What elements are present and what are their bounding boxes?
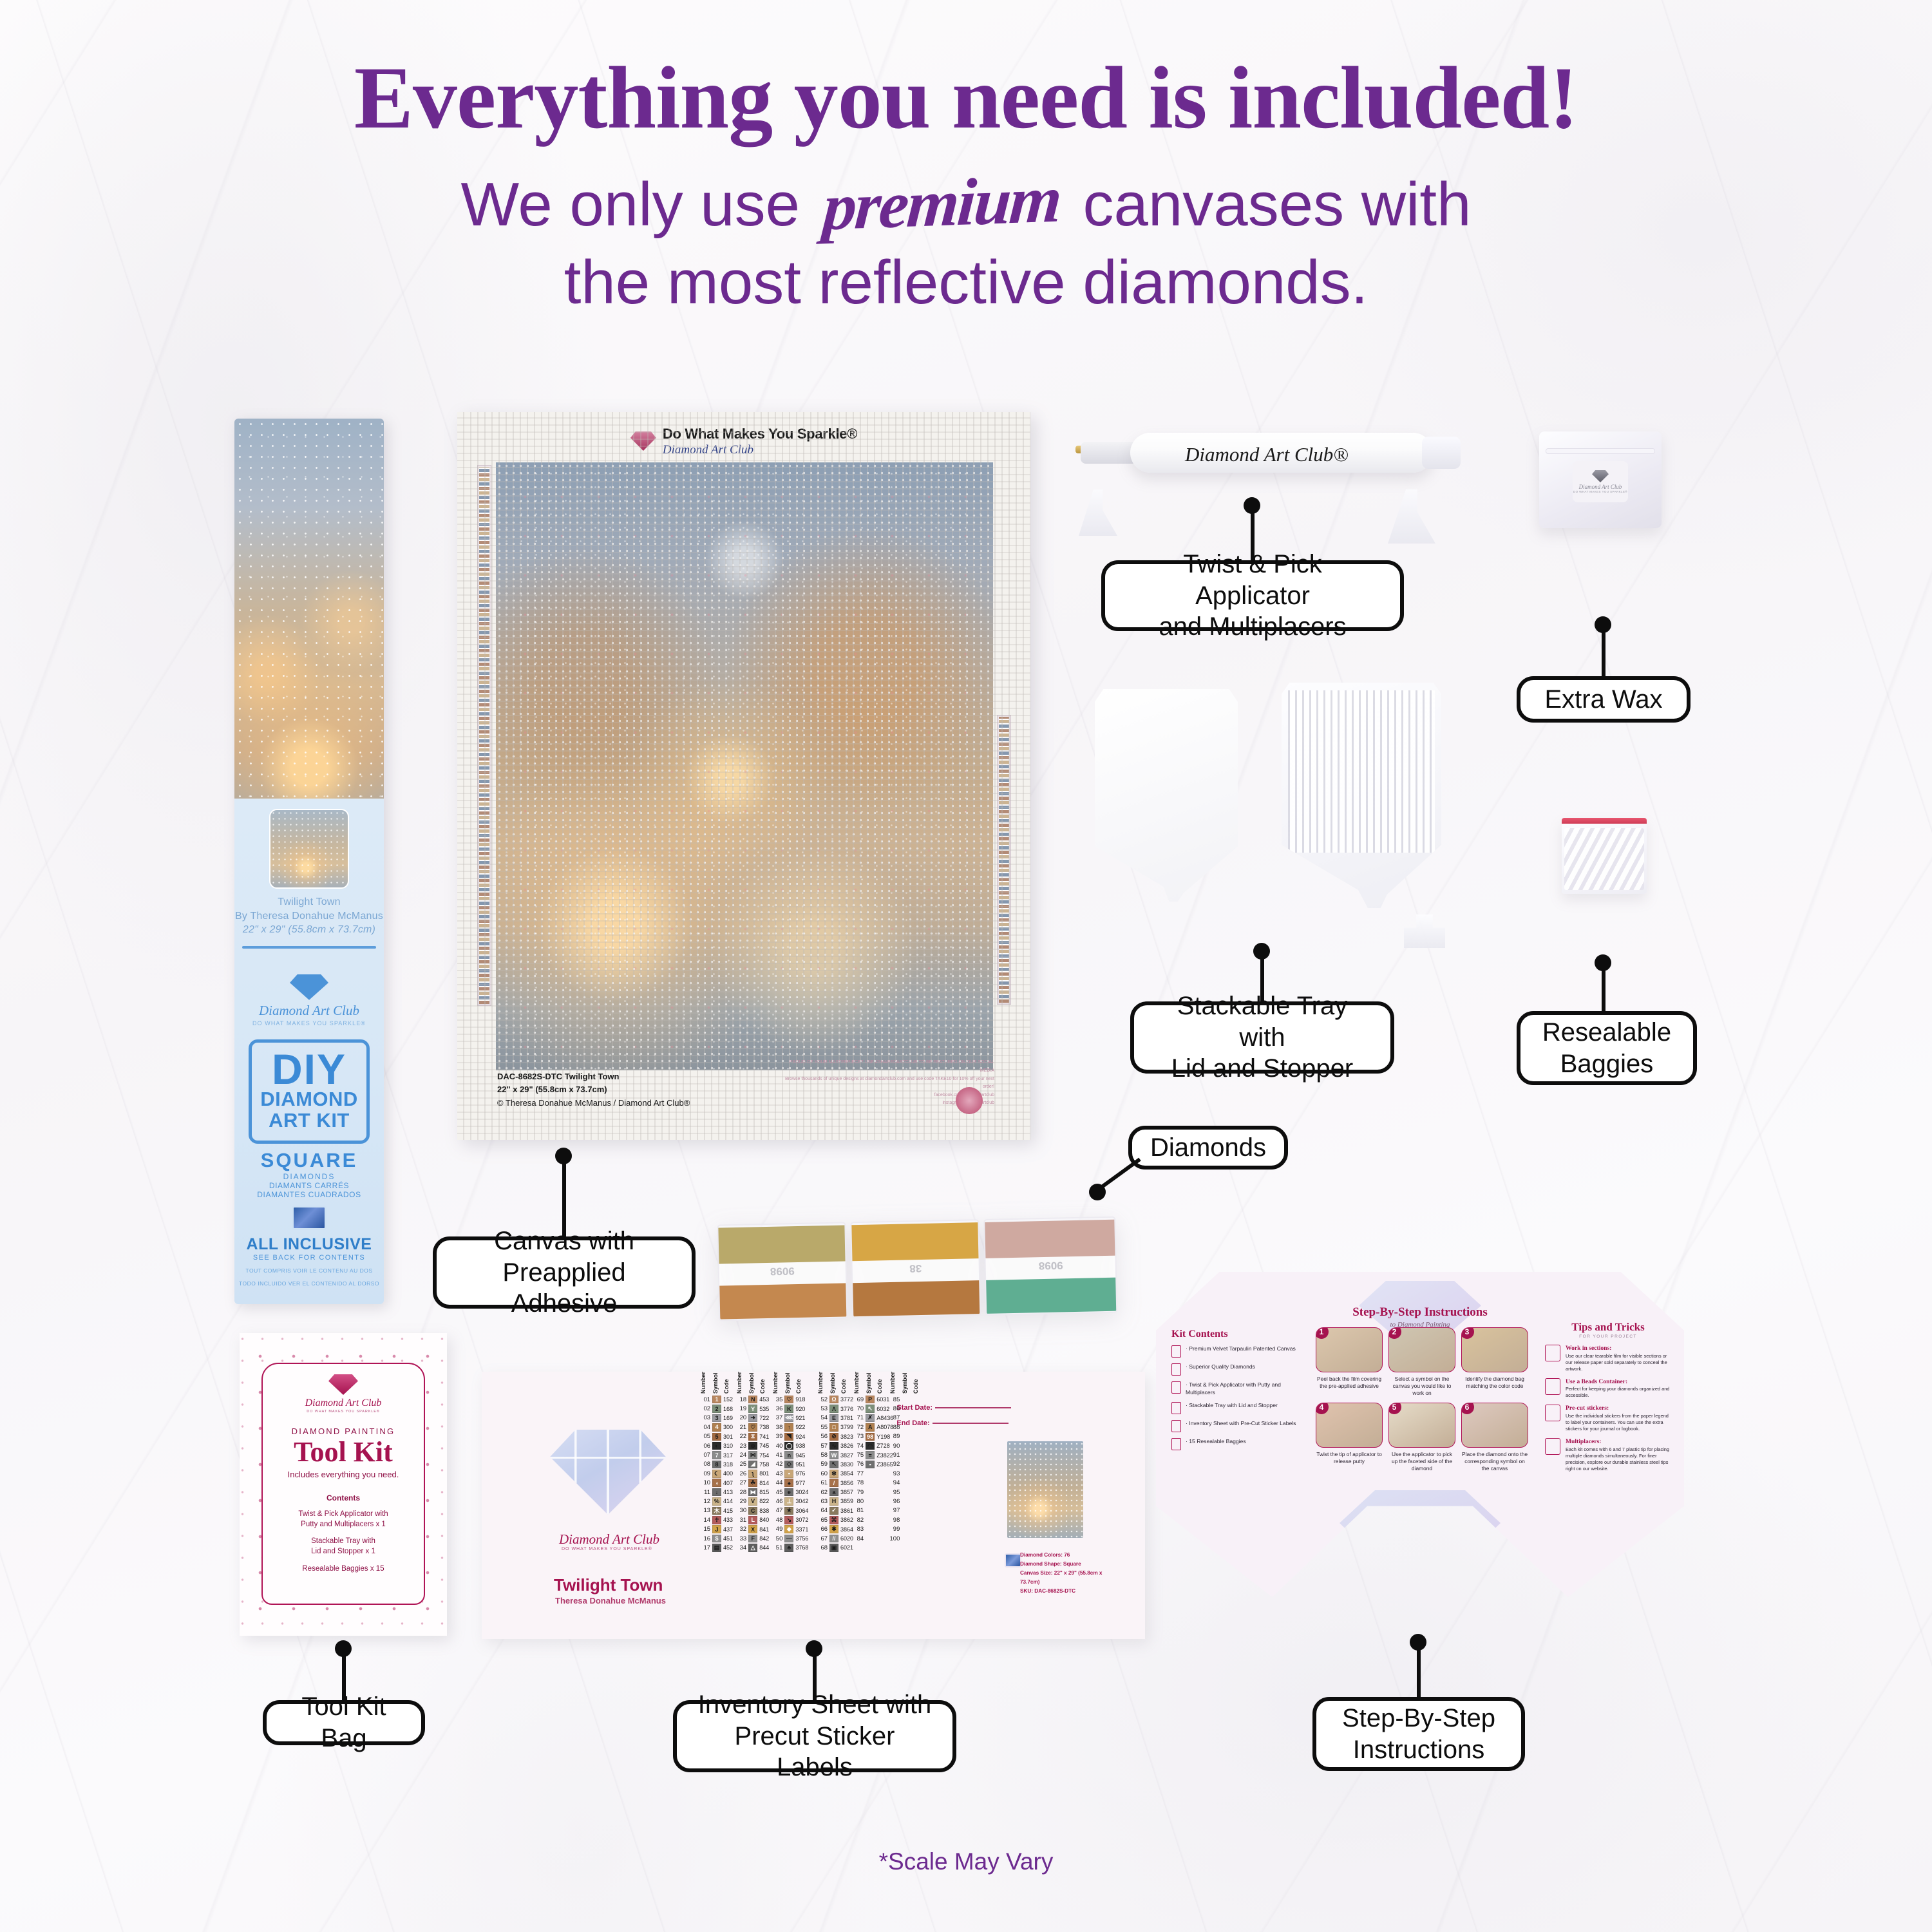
inventory-symbol: ✓ [829, 1507, 838, 1515]
toolkit-subtitle: Includes everything you need. [263, 1470, 424, 1479]
inventory-number: 21 [736, 1424, 746, 1431]
kit-content-item: · 15 Resealable Baggies [1171, 1438, 1298, 1450]
tip-item: Use a Beads Container:Perfect for keepin… [1545, 1378, 1671, 1399]
callout-stackable-tray: Stackable Tray with Lid and Stopper [1130, 1001, 1394, 1074]
inventory-symbol: ↖ [829, 1461, 838, 1469]
toolkit-content-3: Resealable Baggies x 15 [263, 1564, 424, 1574]
inventory-symbol: 98 [866, 1433, 875, 1441]
inventory-symbol: / [829, 1479, 838, 1487]
applicator-rear-cap [1422, 437, 1461, 469]
inventory-header-number: Number [817, 1365, 828, 1394]
inventory-symbol: P [866, 1396, 875, 1404]
instruction-step: 6Place the diamond onto the correspondin… [1461, 1403, 1528, 1472]
inventory-symbol: 7 [712, 1451, 721, 1459]
wax-tagline: DO WHAT MAKES YOU SPARKLE® [1573, 490, 1627, 493]
inventory-symbol: ⊥ [784, 1497, 793, 1506]
inventory-row: 95 [889, 1488, 932, 1497]
inventory-number: 36 [772, 1405, 782, 1412]
inventory-symbol: ↓ [712, 1488, 721, 1497]
leader-dot-baggies [1595, 954, 1611, 971]
inventory-number: 02 [700, 1405, 710, 1412]
toolkit-contents-label: Contents [263, 1493, 424, 1502]
inventory-code: 938 [795, 1443, 815, 1449]
inventory-symbol [902, 1479, 911, 1487]
headline-block: Everything you need is included! We only… [0, 52, 1932, 320]
inventory-code: 924 [795, 1434, 815, 1440]
inventory-number: 88 [889, 1424, 900, 1431]
inventory-symbol: // [829, 1535, 838, 1543]
canvas-seal-badge [956, 1087, 983, 1114]
inventory-symbol [866, 1479, 875, 1487]
diamond-icon [630, 431, 656, 451]
inventory-number: 87 [889, 1414, 900, 1421]
instruction-step-image: 6 [1461, 1403, 1528, 1448]
inventory-number: 40 [772, 1443, 782, 1450]
baggie-plastic-folds [1564, 828, 1644, 890]
inventory-number: 93 [889, 1470, 900, 1477]
inventory-symbol: 木 [712, 1507, 721, 1515]
inventory-symbol: ♡ [748, 1423, 757, 1432]
inventory-code: 918 [795, 1396, 815, 1403]
toolkit-brand-sub: DO WHAT MAKES YOU SPARKLE® [263, 1410, 424, 1414]
inventory-number: 65 [817, 1517, 828, 1524]
canvas-legend-right [997, 715, 1011, 1005]
inventory-symbol [902, 1525, 911, 1533]
diamond-bag: 9098 [717, 1222, 848, 1321]
inventory-symbol [866, 1488, 875, 1497]
canvas-footer: DAC-8682S-DTC Twilight Town 22" x 29" (5… [497, 1070, 690, 1110]
inventory-number: 80 [853, 1498, 864, 1505]
inventory-number: 18 [736, 1396, 746, 1403]
inventory-row: 43▪976 [772, 1469, 815, 1478]
inventory-symbol [902, 1507, 911, 1515]
tube-shape: SQUARE [234, 1149, 384, 1172]
inventory-row: 87 [889, 1414, 932, 1423]
inventory-author: Theresa Donahue McManus [555, 1596, 666, 1605]
inventory-number: 57 [817, 1443, 828, 1450]
tube-diy-badge: DIY DIAMOND ART KIT [249, 1039, 370, 1144]
start-date-input[interactable] [935, 1407, 1011, 1408]
inventory-number: 94 [889, 1479, 900, 1486]
tube-tiny-fr: TOUT COMPRIS VOIR LE CONTENU AU DOS [234, 1267, 384, 1275]
tip-title: Pre-cut stickers: [1566, 1405, 1671, 1413]
inventory-symbol [902, 1488, 911, 1497]
inventory-symbol: L [748, 1516, 757, 1524]
tip-item: Pre-cut stickers:Use the individual stic… [1545, 1405, 1671, 1432]
inventory-row: 36K920 [772, 1404, 815, 1413]
inventory-header-number: Number [889, 1365, 900, 1394]
product-resealable-baggie [1562, 818, 1647, 894]
inventory-symbol: X [748, 1525, 757, 1533]
diamond-bag-code: 9098 [1038, 1258, 1063, 1272]
inventory-header-number: Number [853, 1365, 864, 1394]
diamond-icon [328, 1374, 358, 1395]
inventory-symbol: ☥ [712, 1516, 721, 1524]
inventory-number: 48 [772, 1517, 782, 1524]
tube-shape-sub: DIAMONDS [234, 1172, 384, 1181]
instruction-step-number: 2 [1388, 1327, 1401, 1339]
inventory-number: 30 [736, 1507, 746, 1514]
inventory-number: 28 [736, 1489, 746, 1496]
inventory-meta-size: Canvas Size: 22" x 29" (55.8cm x 73.7cm) [1020, 1569, 1108, 1587]
inventory-row: 39◥924 [772, 1432, 815, 1441]
inventory-meta-block: Diamond Colors: 76 Diamond Shape: Square… [1020, 1551, 1108, 1596]
product-twist-pick-applicator: Diamond Art Club® [1069, 425, 1468, 483]
tube-diy-line3: ART KIT [254, 1110, 364, 1132]
inventory-column-group: NumberSymbolCode858687888990919293949596… [889, 1395, 932, 1543]
inventory-symbol [902, 1414, 911, 1423]
inventory-number: 54 [817, 1414, 828, 1421]
tip-icon [1545, 1405, 1560, 1421]
inventory-symbol: ➜ [748, 1414, 757, 1423]
kit-content-item: · Twist & Pick Applicator with Putty and… [1171, 1381, 1298, 1396]
inventory-symbol [866, 1525, 875, 1533]
instruction-step-image: 3 [1461, 1327, 1528, 1372]
toolkit-brand: Diamond Art Club [263, 1397, 424, 1409]
baggie-zip-strip [1562, 818, 1647, 824]
inventory-header-symbol: Symbol [866, 1365, 875, 1394]
inventory-symbol: ∿ [829, 1442, 838, 1450]
inventory-code: 951 [795, 1461, 815, 1468]
page-subtitle: We only use premium canvases with the mo… [0, 163, 1932, 320]
inventory-row: 96 [889, 1497, 932, 1506]
inventory-number: 13 [700, 1507, 710, 1514]
inventory-symbol: ▪ [866, 1461, 875, 1469]
inventory-number: 20 [736, 1414, 746, 1421]
kit-contents-title: Kit Contents [1171, 1329, 1298, 1340]
inventory-number: 45 [772, 1489, 782, 1496]
inventory-row: 92 [889, 1460, 932, 1469]
inventory-number: 69 [853, 1396, 864, 1403]
inventory-number: 58 [817, 1452, 828, 1459]
inventory-symbol: □ [829, 1423, 838, 1432]
tip-title: Work in sections: [1566, 1345, 1671, 1353]
inventory-symbol: ↖ [866, 1405, 875, 1413]
inventory-row: 68▣6021 [817, 1543, 860, 1552]
inventory-symbol: ◠ [866, 1442, 875, 1450]
inventory-number: 01 [700, 1396, 710, 1403]
tips-and-tricks-block: Tips and Tricks FOR YOUR PROJECT Work in… [1545, 1321, 1671, 1472]
inventory-row: 41n945 [772, 1450, 815, 1459]
inventory-symbol: 8 [712, 1461, 721, 1469]
inventory-number: 95 [889, 1489, 900, 1496]
inventory-number: 14 [700, 1517, 710, 1524]
inventory-symbol [902, 1396, 911, 1404]
callout-extra-wax: Extra Wax [1517, 676, 1690, 723]
inventory-row: 50—3756 [772, 1534, 815, 1543]
inventory-symbol: a [829, 1488, 838, 1497]
diamond-chip-icon [292, 1206, 327, 1230]
inventory-number: 46 [772, 1498, 782, 1505]
inventory-meta-colors: Diamond Colors: 76 [1020, 1551, 1108, 1560]
tip-text: Perfect for keeping your diamonds organi… [1566, 1386, 1671, 1399]
inventory-symbol: ⋈ [748, 1451, 757, 1459]
inventory-symbol: $ [712, 1535, 721, 1543]
tube-diy-line2: DIAMOND [254, 1089, 364, 1110]
inventory-number: 78 [853, 1479, 864, 1486]
inventory-number: 31 [736, 1517, 746, 1524]
tube-label-area: Twilight Town By Theresa Donahue McManus… [234, 799, 384, 1304]
instruction-step-image: 1 [1316, 1327, 1383, 1372]
inventory-number: 49 [772, 1526, 782, 1533]
instruction-step-text: Select a symbol on the canvas you would … [1388, 1376, 1455, 1397]
kit-contents-block: Kit Contents · Premium Velvet Tarpaulin … [1171, 1329, 1298, 1456]
inventory-number: 50 [772, 1535, 782, 1542]
inventory-code: 3072 [795, 1517, 815, 1523]
inventory-number: 12 [700, 1498, 710, 1505]
inventory-number: 62 [817, 1489, 828, 1496]
inventory-meta-sku: SKU: DAC-8682S-DTC [1020, 1587, 1108, 1596]
inventory-number: 63 [817, 1498, 828, 1505]
subtitle-part-3: the most reflective diamonds. [564, 248, 1368, 317]
inventory-number: 70 [853, 1405, 864, 1412]
inventory-symbol: K [784, 1405, 793, 1413]
leader-dot-toolkit [335, 1640, 352, 1657]
inventory-number: 71 [853, 1414, 864, 1421]
inventory-header-symbol: Symbol [829, 1365, 838, 1394]
canvas-legend-left [477, 465, 491, 1006]
diamond-bag: 38 [850, 1219, 981, 1318]
inventory-symbol [902, 1497, 911, 1506]
inventory-number: 64 [817, 1507, 828, 1514]
inventory-number: 82 [853, 1517, 864, 1524]
inventory-row: 94 [889, 1479, 932, 1488]
leader-dot-tray [1253, 943, 1270, 960]
inventory-number: 05 [700, 1433, 710, 1440]
inventory-number: 81 [853, 1507, 864, 1514]
inventory-symbol: ★ [784, 1507, 793, 1515]
inventory-number: 60 [817, 1470, 828, 1477]
inventory-number: 84 [853, 1535, 864, 1542]
instruction-step-image: 2 [1388, 1327, 1455, 1372]
tube-divider [242, 946, 376, 949]
tube-all-inclusive: ALL INCLUSIVE [234, 1235, 384, 1254]
inventory-number: 22 [736, 1433, 746, 1440]
inventory-number: 89 [889, 1433, 900, 1440]
inventory-number: 79 [853, 1489, 864, 1496]
inventory-symbol: ▣ [829, 1544, 838, 1552]
diamond-icon [1592, 470, 1609, 482]
inventory-meta-shape: Diamond Shape: Square [1020, 1560, 1108, 1569]
kit-content-icon [1171, 1438, 1181, 1450]
instruction-step-text: Identify the diamond bag matching the co… [1461, 1376, 1528, 1390]
tip-icon [1545, 1438, 1560, 1455]
inventory-number: 90 [889, 1443, 900, 1450]
inventory-number: 53 [817, 1405, 828, 1412]
canvas-side-note: PROUD OF YOUR MASTERPIECE? USE #SHAREDAR… [775, 1059, 994, 1075]
inventory-number: 23 [736, 1443, 746, 1450]
wax-label: Diamond Art Club DO WHAT MAKES YOU SPARK… [1573, 461, 1628, 502]
wax-brand: Diamond Art Club [1579, 484, 1622, 490]
inventory-row: 42◇951 [772, 1460, 815, 1469]
inventory-number: 26 [736, 1470, 746, 1477]
inventory-number: 51 [772, 1544, 782, 1551]
inventory-symbol: J [712, 1525, 721, 1533]
inventory-number: 35 [772, 1396, 782, 1403]
inventory-symbol [902, 1470, 911, 1478]
instruction-step: 1Peel back the film covering the pre-app… [1316, 1327, 1383, 1397]
diamond-bag-code: 38 [909, 1262, 922, 1274]
inventory-number: 33 [736, 1535, 746, 1542]
kit-contents-list: · Premium Velvet Tarpaulin Patented Canv… [1171, 1345, 1298, 1450]
end-date-input[interactable] [933, 1423, 1009, 1424]
inventory-symbol: N [748, 1396, 757, 1404]
inventory-symbol [902, 1405, 911, 1413]
inventory-code: 6021 [840, 1544, 860, 1551]
inventory-symbol: e [784, 1488, 793, 1497]
kit-content-label: · Premium Velvet Tarpaulin Patented Canv… [1186, 1345, 1296, 1358]
tip-icon [1545, 1378, 1560, 1395]
inventory-number: 76 [853, 1461, 864, 1468]
toolkit-content-2: Stackable Tray with Lid and Stopper x 1 [263, 1536, 424, 1557]
inventory-code: 920 [795, 1406, 815, 1412]
kit-content-icon [1171, 1363, 1181, 1376]
product-inventory-sheet: Diamond Art Club DO WHAT MAKES YOU SPARK… [482, 1372, 1145, 1639]
inventory-symbol: W [829, 1451, 838, 1459]
instruction-step-text: Use the applicator to pick up the facete… [1388, 1451, 1455, 1472]
inventory-brand-sub: DO WHAT MAKES YOU SPARKLE® [562, 1547, 652, 1551]
inventory-row: 86 [889, 1404, 932, 1413]
inventory-number: 72 [853, 1424, 864, 1431]
instruction-step: 5Use the applicator to pick up the facet… [1388, 1403, 1455, 1472]
inventory-brand: Diamond Art Club [559, 1531, 659, 1548]
tube-brand-block: Diamond Art Club DO WHAT MAKES YOU SPARK… [234, 974, 384, 1027]
subtitle-part-1: We only use [461, 170, 800, 239]
inventory-number: 07 [700, 1452, 710, 1459]
callout-diamonds: Diamonds [1128, 1126, 1288, 1170]
inventory-number: 61 [817, 1479, 828, 1486]
tip-title: Use a Beads Container: [1566, 1378, 1671, 1387]
instruction-steps-grid: 1Peel back the film covering the pre-app… [1316, 1327, 1528, 1472]
inventory-number: 11 [700, 1489, 710, 1496]
inventory-number: 99 [889, 1526, 900, 1533]
canvas-sku-title: DAC-8682S-DTC Twilight Town [497, 1070, 690, 1084]
inventory-number: 24 [736, 1452, 746, 1459]
inventory-number: 85 [889, 1396, 900, 1403]
instructions-title: Step-By-Step Instructions [1156, 1305, 1684, 1320]
inventory-symbol: % [712, 1497, 721, 1506]
product-extra-wax-packet: Diamond Art Club DO WHAT MAKES YOU SPARK… [1539, 431, 1662, 528]
inventory-row: 93 [889, 1469, 932, 1478]
toolkit-content-1: Twist & Pick Applicator with Putty and M… [263, 1509, 424, 1529]
leader-dot-inventory [806, 1640, 822, 1657]
inventory-symbol: ◖ [712, 1479, 721, 1487]
tube-diy-text: DIY [254, 1049, 364, 1090]
instruction-step-text: Twist the tip of applicator to release p… [1316, 1451, 1383, 1465]
inventory-symbol [902, 1461, 911, 1469]
tube-brand-tagline: DO WHAT MAKES YOU SPARKLE® [234, 1020, 384, 1027]
inventory-symbol [902, 1433, 911, 1441]
inventory-number: 66 [817, 1526, 828, 1533]
inventory-row: 46⊥3042 [772, 1497, 815, 1506]
tube-brand-name: Diamond Art Club [234, 1003, 384, 1019]
inventory-number: 27 [736, 1479, 746, 1486]
inventory-row: 37⋘921 [772, 1414, 815, 1423]
inventory-symbol: ◆ [784, 1525, 793, 1533]
inventory-symbol: ↑ [784, 1423, 793, 1432]
tip-text: Use the individual stickers from the pap… [1566, 1413, 1671, 1432]
tube-design-title: Twilight Town [234, 895, 384, 909]
inventory-number: 08 [700, 1461, 710, 1468]
inventory-number: 73 [853, 1433, 864, 1440]
inventory-symbol: ☾ [712, 1470, 721, 1478]
inventory-row: 40◯938 [772, 1441, 815, 1450]
inventory-number: 04 [700, 1424, 710, 1431]
inventory-symbol: ⊘ [829, 1433, 838, 1441]
inventory-symbol: ✱ [829, 1525, 838, 1533]
inventory-symbol [902, 1516, 911, 1524]
inventory-symbol: ⊕ [748, 1442, 757, 1450]
inventory-number: 86 [889, 1405, 900, 1412]
leader-dot-twist-pick [1244, 497, 1260, 514]
inventory-number: 19 [736, 1405, 746, 1412]
kit-content-label: · Stackable Tray with Lid and Stopper [1186, 1402, 1278, 1414]
inventory-code: 922 [795, 1424, 815, 1430]
subtitle-part-2: canvases with [1083, 170, 1472, 239]
tip-item: Work in sections:Use our clear tearable … [1545, 1345, 1671, 1372]
inventory-symbol: F [748, 1535, 757, 1543]
inventory-number: 55 [817, 1424, 828, 1431]
tube-tiny-es: TODO INCLUIDO VER EL CONTENIDO AL DORSO [234, 1280, 384, 1288]
inventory-number: 52 [817, 1396, 828, 1403]
kit-content-label: · Inventory Sheet with Pre-Cut Sticker L… [1186, 1420, 1296, 1432]
inventory-row: 38↑922 [772, 1423, 815, 1432]
inventory-symbol: A [866, 1423, 875, 1432]
wax-zip-seal [1546, 448, 1655, 454]
instruction-step-image: 5 [1388, 1403, 1455, 1448]
instruction-step-number: 5 [1388, 1403, 1401, 1414]
inventory-number: 96 [889, 1498, 900, 1505]
diamond-bag-code: 9098 [770, 1264, 795, 1278]
inventory-header-code: Code [795, 1365, 815, 1394]
inventory-symbol: ◥ [784, 1433, 793, 1441]
inventory-symbol [902, 1535, 911, 1543]
toolkit-label-panel: Diamond Art Club DO WHAT MAKES YOU SPARK… [261, 1363, 425, 1605]
kit-content-label: · Twist & Pick Applicator with Putty and… [1186, 1381, 1298, 1396]
scale-disclaimer: *Scale May Vary [0, 1848, 1932, 1875]
tube-shape-fr: DIAMANTS CARRÉS [234, 1181, 384, 1190]
inventory-row: 89 [889, 1432, 932, 1441]
canvas-copyright: © Theresa Donahue McManus / Diamond Art … [497, 1097, 690, 1110]
inventory-symbol: ▪ [784, 1470, 793, 1478]
callout-inventory-sheet: Inventory Sheet with Precut Sticker Labe… [673, 1700, 956, 1772]
inventory-number: 39 [772, 1433, 782, 1440]
kit-content-item: · Inventory Sheet with Pre-Cut Sticker L… [1171, 1420, 1298, 1432]
inventory-symbol: = [866, 1451, 875, 1459]
inventory-number: 59 [817, 1461, 828, 1468]
inventory-preview-image [1007, 1441, 1083, 1538]
inventory-header-number: Number [772, 1365, 782, 1394]
canvas-artwork [496, 462, 993, 1070]
inventory-symbol: ✻ [829, 1470, 838, 1478]
canvas-header: Do What Makes You Sparkle® Diamond Art C… [457, 421, 1030, 461]
inventory-number: 43 [772, 1470, 782, 1477]
diamond-chip-icon [1005, 1553, 1021, 1567]
kit-content-item: · Superior Quality Diamonds [1171, 1363, 1298, 1376]
inventory-number: 56 [817, 1433, 828, 1440]
applicator-threaded-tip [1081, 442, 1137, 464]
inventory-row: 44♠977 [772, 1479, 815, 1488]
inventory-number: 34 [736, 1544, 746, 1551]
inventory-header-symbol: Symbol [748, 1365, 757, 1394]
tube-artist: By Theresa Donahue McManus [234, 909, 384, 923]
inventory-number: 10 [700, 1479, 710, 1486]
callout-canvas-adhesive: Canvas with Preapplied Adhesive [433, 1236, 696, 1309]
canvas-header-tagline: Do What Makes You Sparkle® [663, 426, 857, 442]
inventory-number: 100 [889, 1535, 900, 1542]
callout-step-by-step: Step-By-Step Instructions [1312, 1697, 1525, 1771]
instruction-step-number: 4 [1316, 1403, 1329, 1414]
